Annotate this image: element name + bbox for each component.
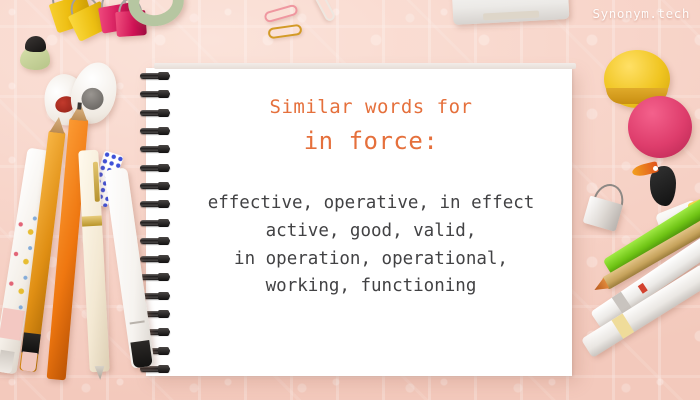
spiral-ring — [140, 145, 172, 154]
bird-eraser-green — [20, 36, 50, 70]
spiral-ring — [140, 273, 172, 282]
synonym-list: effective, operative, in effect active, … — [208, 190, 535, 301]
camera-grip — [483, 11, 539, 21]
spiral-ring — [140, 164, 172, 173]
marker-cap-tip — [130, 340, 152, 368]
spiral-ring — [140, 255, 172, 264]
toucan-eye — [653, 166, 658, 171]
spiral-ring — [140, 182, 172, 191]
spiral-ring — [140, 200, 172, 209]
notepad-page: Similar words for in force: effective, o… — [146, 68, 572, 376]
spiral-ring — [140, 72, 172, 81]
site-watermark: Synonym.tech — [592, 6, 690, 21]
bird-head-black — [25, 36, 46, 52]
spiral-ring — [140, 90, 172, 99]
spiral-ring — [140, 219, 172, 228]
stone-center-gray — [79, 85, 106, 112]
marker-label-text — [130, 320, 145, 324]
pen-tip — [0, 350, 15, 374]
pen-clip-gold — [93, 162, 100, 202]
notepad-content: Similar words for in force: effective, o… — [184, 68, 558, 376]
spiral-ring — [140, 109, 172, 118]
pen-ring-gold — [82, 216, 102, 227]
spiral-ring — [140, 237, 172, 246]
marker-label-red — [638, 283, 648, 294]
page-title-line-1: Similar words for — [270, 94, 473, 122]
macaron-pink — [628, 96, 692, 158]
page-title-line-2: in force: — [304, 124, 439, 159]
pencil-graphite — [77, 102, 82, 109]
pen-grip-pink — [0, 308, 25, 341]
pencil-eraser — [20, 351, 37, 372]
toucan-sticker — [634, 158, 684, 208]
spiral-ring — [140, 127, 172, 136]
